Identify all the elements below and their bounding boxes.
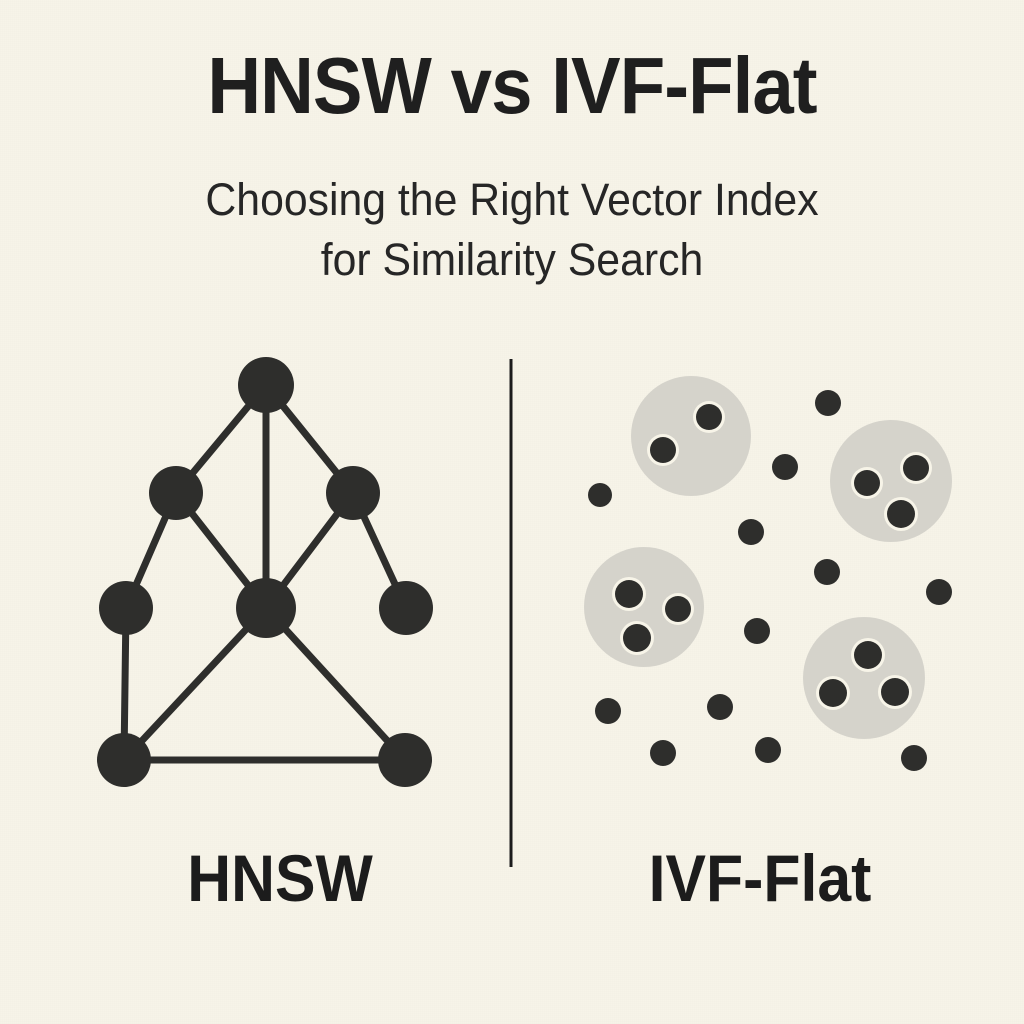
graph-node bbox=[99, 581, 153, 635]
graph-node bbox=[379, 581, 433, 635]
infographic-canvas: HNSW vs IVF-Flat Choosing the Right Vect… bbox=[0, 0, 1024, 1024]
vector-point-outlier bbox=[650, 740, 676, 766]
vector-point-outlier bbox=[814, 559, 840, 585]
vector-point-outlier bbox=[707, 694, 733, 720]
right-panel-label: IVF-Flat bbox=[558, 845, 963, 911]
graph-edge bbox=[124, 608, 266, 760]
vector-point-outlier bbox=[595, 698, 621, 724]
graph-node bbox=[236, 578, 296, 638]
vector-point bbox=[615, 580, 643, 608]
hnsw-graph-edges bbox=[124, 385, 406, 760]
graph-node bbox=[238, 357, 294, 413]
vector-point bbox=[903, 455, 929, 481]
cluster-circle bbox=[631, 376, 751, 496]
left-panel-label: HNSW bbox=[96, 845, 464, 911]
vector-point-outlier bbox=[738, 519, 764, 545]
vector-point bbox=[854, 470, 880, 496]
vector-point-outlier bbox=[772, 454, 798, 480]
vector-point bbox=[696, 404, 722, 430]
vector-point bbox=[623, 624, 651, 652]
vector-point bbox=[887, 500, 915, 528]
graph-node bbox=[149, 466, 203, 520]
vector-point-outlier bbox=[744, 618, 770, 644]
vector-point bbox=[854, 641, 882, 669]
vector-point-outlier bbox=[755, 737, 781, 763]
vector-point-outlier bbox=[815, 390, 841, 416]
cluster-circle bbox=[803, 617, 925, 739]
vector-point bbox=[665, 596, 691, 622]
vector-point-outlier bbox=[588, 483, 612, 507]
vector-point bbox=[650, 437, 676, 463]
graph-node bbox=[326, 466, 380, 520]
graph-edge bbox=[266, 608, 405, 760]
vector-point bbox=[819, 679, 847, 707]
vector-point-outlier bbox=[901, 745, 927, 771]
vector-point-outlier bbox=[926, 579, 952, 605]
graph-node bbox=[97, 733, 151, 787]
graph-node bbox=[378, 733, 432, 787]
vector-point bbox=[881, 678, 909, 706]
